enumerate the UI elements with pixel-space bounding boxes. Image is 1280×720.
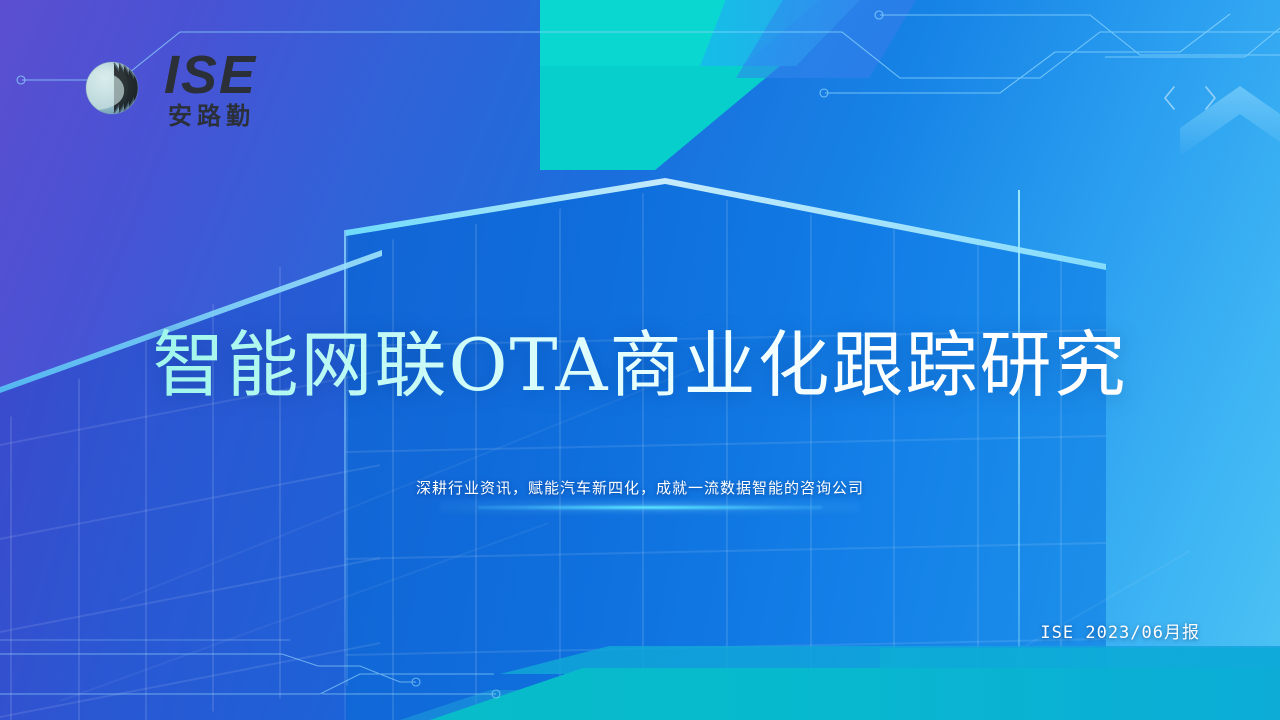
- page-title: 智能网联OTA商业化跟踪研究: [0, 306, 1280, 411]
- brand-wordmark: ISE 安路勤: [164, 48, 257, 128]
- accent-shape-teal-right-haze: [880, 648, 1280, 720]
- building-corner-seam-right: [1018, 190, 1020, 720]
- building-left-window-grid: [0, 211, 380, 720]
- brand-abbr: ISE: [164, 48, 257, 102]
- chevron-left-icon[interactable]: [1162, 84, 1178, 112]
- building-corner-seam-left: [344, 230, 346, 720]
- slide-navigation[interactable]: [1162, 84, 1218, 112]
- building-right-window-grid: [346, 180, 1106, 720]
- brand-logo: ISE 安路勤: [78, 48, 257, 128]
- footer-report-label: ISE 2023/06月报: [1040, 618, 1200, 643]
- brand-name-cn: 安路勤: [164, 104, 257, 128]
- chevron-right-icon[interactable]: [1202, 84, 1218, 112]
- globe-sphere-icon: [78, 52, 150, 124]
- divider-glow-line: [478, 505, 822, 510]
- slide-cover: ISE 安路勤 智能网联OTA商业化跟踪研究 深耕行业资讯，赋能汽车新四化，成就…: [0, 0, 1280, 720]
- page-subtitle: 深耕行业资讯，赋能汽车新四化，成就一流数据智能的咨询公司: [0, 477, 1280, 498]
